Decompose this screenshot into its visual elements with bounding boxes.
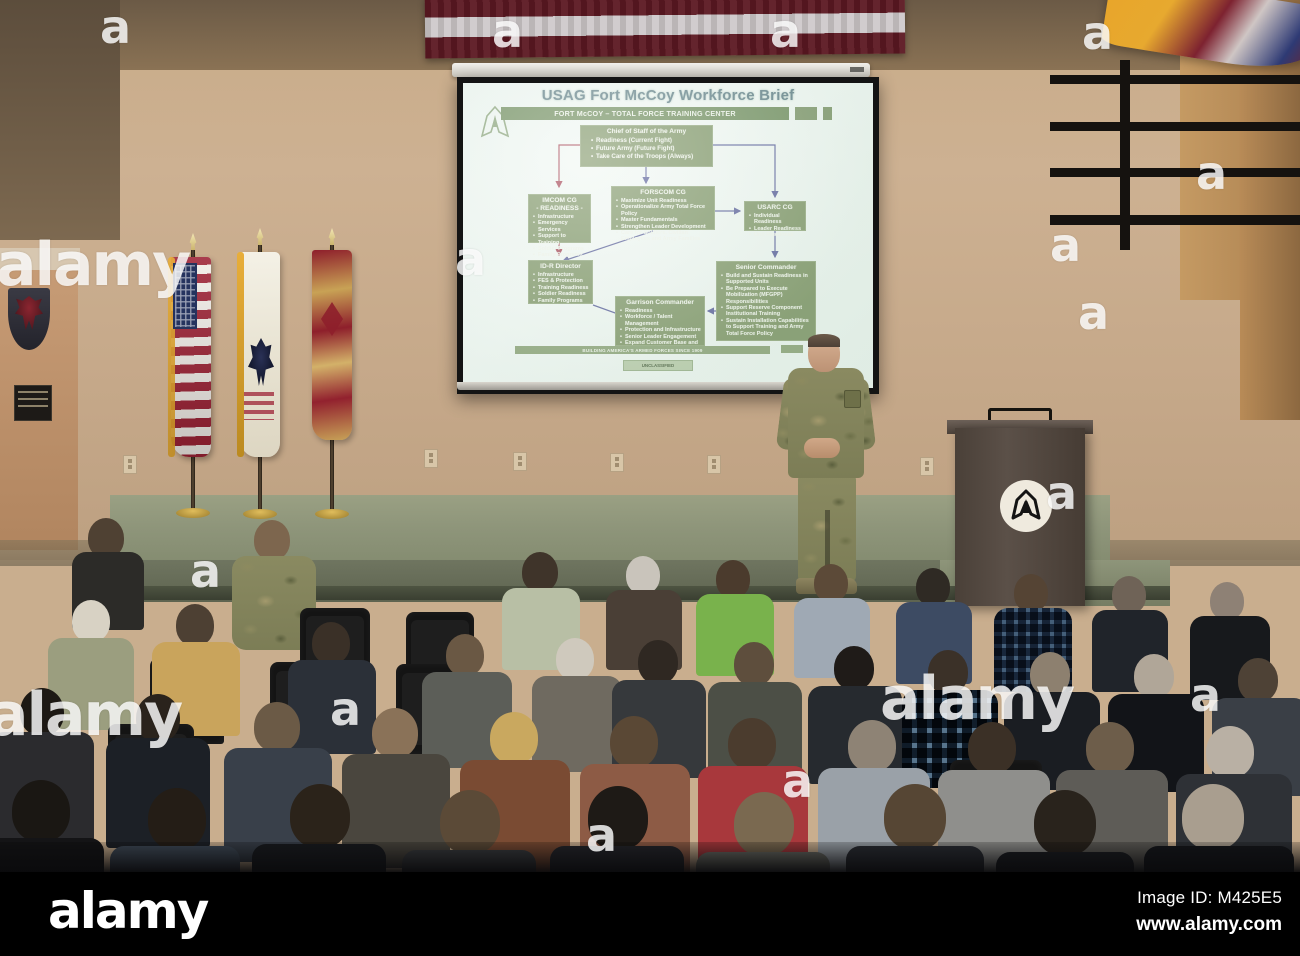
flag-canton xyxy=(173,263,197,329)
speaker-shoulder-patch xyxy=(844,390,861,408)
bullet: Care for Soldiers, Civilian Employees an… xyxy=(621,230,711,243)
head xyxy=(928,650,968,694)
head xyxy=(72,600,110,642)
head xyxy=(1112,576,1146,614)
head xyxy=(834,646,874,690)
head xyxy=(610,716,658,768)
screen-brand-label xyxy=(850,67,864,72)
head xyxy=(848,720,896,772)
alamy-footer-bar: alamy Image ID: M425E5 www.alamy.com xyxy=(0,872,1300,956)
wall-outlet-2 xyxy=(513,452,527,471)
node-garrison-commander: Garrison Commander Readiness Workforce /… xyxy=(615,296,705,346)
crest-eagle-icon xyxy=(15,296,43,330)
node-header: ID-R Director xyxy=(532,263,589,271)
node-header: Senior Commander xyxy=(720,264,812,272)
node-bullets: Infrastructure Emergency Services Suppor… xyxy=(532,214,587,259)
wall-outlet-6 xyxy=(123,455,137,474)
node-usarc-cg: USARC CG Individual Readiness Leader Rea… xyxy=(744,201,806,231)
alamy-logo: alamy xyxy=(48,886,207,936)
head xyxy=(916,568,950,606)
head xyxy=(290,784,350,848)
foreground-shadow xyxy=(0,842,1300,872)
node-header: IMCOM CG xyxy=(532,197,587,205)
unit-guidon-flag xyxy=(312,250,352,440)
left-wall-dark xyxy=(0,0,120,240)
balcony-rail-1 xyxy=(1050,75,1300,84)
wall-plaque xyxy=(14,385,52,421)
head xyxy=(136,694,180,742)
torso xyxy=(288,660,376,754)
alcove-valance xyxy=(0,248,80,270)
head xyxy=(176,604,214,646)
node-senior-commander: Senior Commander Build and Sustain Readi… xyxy=(716,261,816,341)
head xyxy=(1238,658,1278,702)
screenshot-root: USAG Fort McCoy Workforce Brief FORT McC… xyxy=(0,0,1300,956)
node-bullets: Maximize Unit Readiness Operationalize A… xyxy=(615,198,711,243)
bullet: Operationalize Army Total Force Policy xyxy=(621,204,711,217)
node-header: Chief of Staff of the Army xyxy=(584,128,709,136)
audience xyxy=(0,512,1300,872)
head xyxy=(1182,784,1244,850)
node-header: Garrison Commander xyxy=(619,299,701,307)
node-header: FORSCOM CG xyxy=(615,189,711,197)
head xyxy=(522,552,558,592)
bullet: Be Prepared to Execute Mobilization (MFG… xyxy=(726,286,812,305)
wall-outlet-4 xyxy=(707,455,721,474)
head xyxy=(1030,652,1070,696)
head xyxy=(254,702,300,752)
node-header: USARC CG xyxy=(748,204,802,212)
node-bullets: Individual Readiness Leader Readiness Un… xyxy=(748,213,802,239)
head xyxy=(734,642,774,686)
wall-outlet-1 xyxy=(424,449,438,468)
united-states-flag xyxy=(171,257,211,457)
head xyxy=(490,712,538,764)
head xyxy=(148,788,206,850)
projector-screen-case xyxy=(452,63,870,77)
hanging-us-flag-folds xyxy=(425,0,906,59)
bullet: Support to Training xyxy=(538,233,587,246)
flag-fringe xyxy=(237,252,244,457)
head xyxy=(728,718,776,770)
speaker-hair xyxy=(808,334,840,347)
flag-red-accent xyxy=(244,392,274,420)
wall-outlet-3 xyxy=(610,453,624,472)
bullet: Workforce / Talent Management xyxy=(625,314,701,327)
head xyxy=(884,784,946,850)
bullet: Unit Readiness xyxy=(754,232,802,238)
head xyxy=(1014,574,1048,612)
head xyxy=(814,564,848,602)
head xyxy=(638,640,678,684)
footer-meta: Image ID: M425E5 www.alamy.com xyxy=(1136,888,1282,936)
army-seal-icon xyxy=(248,338,274,386)
bullet: Family Programs xyxy=(538,252,587,258)
bullet: Take Care of the Troops (Always) xyxy=(596,153,709,161)
guidon-emblem-icon xyxy=(321,302,343,336)
head xyxy=(1210,582,1244,620)
node-idr-director: ID-R Director Infrastructure FES & Prote… xyxy=(528,260,593,304)
head xyxy=(20,688,64,736)
head xyxy=(588,786,648,850)
bullet: Individual Readiness xyxy=(754,213,802,226)
slide-footer-band: BUILDING AMERICA'S ARMED FORCES SINCE 19… xyxy=(515,346,770,354)
node-chief-of-staff: Chief of Staff of the Army Readiness (Cu… xyxy=(580,125,713,167)
node-bullets: Infrastructure FES & Protection Training… xyxy=(532,272,589,304)
head xyxy=(556,638,594,680)
bullet: Family Programs xyxy=(538,298,589,304)
node-bullets: Readiness (Current Fight) Future Army (F… xyxy=(584,137,709,162)
army-flag xyxy=(240,252,280,457)
slide-footer-tag: UNCLASSIFIED xyxy=(623,360,693,371)
balcony-rail-4 xyxy=(1050,215,1300,225)
speaker-hands xyxy=(804,438,840,458)
torso xyxy=(532,676,622,772)
head xyxy=(1206,726,1254,778)
speaker-torso xyxy=(788,368,864,478)
node-forscom-cg: FORSCOM CG Maximize Unit Readiness Opera… xyxy=(611,186,715,230)
alamy-url: www.alamy.com xyxy=(1136,914,1282,936)
wall-outlet-5 xyxy=(920,457,934,476)
bullet: Build and Sustain Readiness in Supported… xyxy=(726,273,812,286)
head xyxy=(1134,654,1174,698)
balcony-rail-2 xyxy=(1050,122,1300,131)
photograph: USAG Fort McCoy Workforce Brief FORT McC… xyxy=(0,0,1300,872)
head xyxy=(12,780,70,842)
bullet: Emergency Services xyxy=(538,220,587,233)
head xyxy=(1086,722,1134,774)
node-bullets: Build and Sustain Readiness in Supported… xyxy=(720,273,812,337)
bullet: Support Reserve Component Institutional … xyxy=(726,305,812,318)
head xyxy=(372,708,418,758)
head xyxy=(716,560,750,598)
head xyxy=(446,634,484,676)
head xyxy=(968,722,1016,774)
image-id-label: Image ID: M425E5 xyxy=(1136,888,1282,908)
balcony-rail-3 xyxy=(1050,168,1300,177)
node-imcom-cg: IMCOM CG - READINESS - Infrastructure Em… xyxy=(528,194,591,243)
head xyxy=(254,520,290,560)
node-subheader: - READINESS - xyxy=(532,205,587,213)
head xyxy=(626,556,660,594)
bullet: Readiness (Current Fight) xyxy=(596,137,709,145)
head xyxy=(312,622,350,664)
